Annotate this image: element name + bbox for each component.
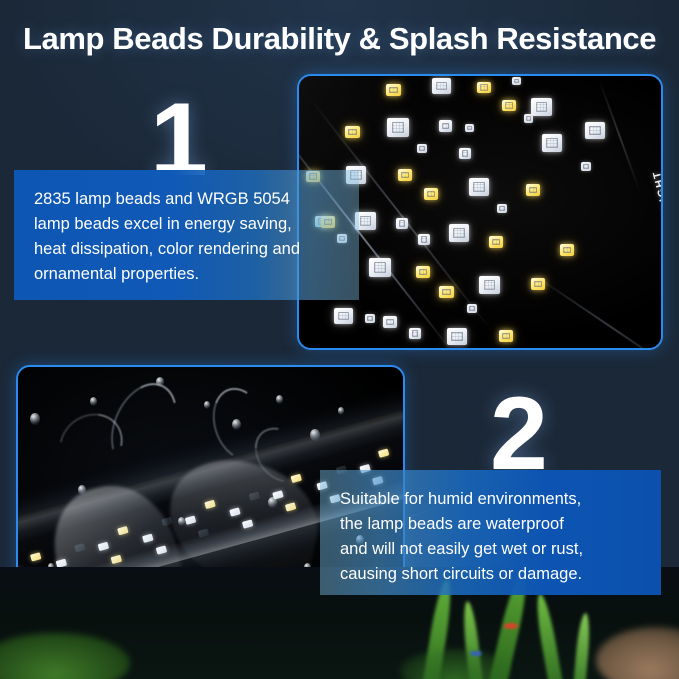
page-title: Lamp Beads Durability & Splash Resistanc… <box>0 21 679 57</box>
led-bead <box>416 266 430 278</box>
water-droplet <box>232 419 241 430</box>
water-droplet <box>268 497 277 508</box>
led-bead <box>581 162 591 171</box>
led-bead <box>409 328 421 339</box>
led-bead <box>345 126 360 138</box>
water-droplet <box>276 395 283 404</box>
led-bead <box>418 234 430 245</box>
led-bead <box>449 224 469 242</box>
led-bead <box>469 178 489 196</box>
led-bead <box>439 286 454 298</box>
water-droplet <box>310 429 320 441</box>
led-bead <box>417 144 427 153</box>
water-droplet <box>156 377 164 387</box>
led-bead <box>424 188 438 200</box>
water-droplet <box>204 401 210 409</box>
led-bead <box>447 328 467 345</box>
led-bead <box>465 124 474 132</box>
led-bead <box>499 330 513 342</box>
water-droplet <box>338 407 344 415</box>
led-bead <box>398 169 412 181</box>
infographic-canvas: Lamp Beads Durability & Splash Resistanc… <box>0 0 679 679</box>
led-bead <box>386 84 401 96</box>
water-droplet <box>90 397 97 406</box>
fish <box>470 651 482 656</box>
fish <box>504 623 518 629</box>
led-bead <box>512 77 521 85</box>
led-bead <box>502 100 516 111</box>
led-bead <box>432 78 451 94</box>
water-droplet <box>178 517 185 526</box>
feature-2-caption: Suitable for humid environments, the lam… <box>320 470 661 595</box>
plant-moss <box>596 627 679 679</box>
led-bead <box>585 122 605 139</box>
led-bead <box>479 276 500 294</box>
led-bead <box>524 114 533 123</box>
plant-moss <box>0 633 130 679</box>
led-bead <box>365 314 375 323</box>
led-bead <box>334 308 353 324</box>
plant-blade <box>572 613 591 679</box>
led-bead <box>383 316 397 328</box>
led-bead <box>396 218 408 229</box>
led-bead <box>497 204 507 213</box>
led-bead <box>531 278 545 290</box>
led-bead <box>467 304 477 313</box>
water-droplet <box>30 413 40 425</box>
led-bead <box>526 184 540 196</box>
led-bead <box>531 98 552 116</box>
plant-blade <box>533 593 565 679</box>
led-bead <box>560 244 574 256</box>
led-bead <box>477 82 491 93</box>
led-bead <box>369 258 391 277</box>
led-bead <box>489 236 503 248</box>
water-droplet <box>78 485 86 495</box>
feature-1-caption: 2835 lamp beads and WRGB 5054 lamp beads… <box>14 170 359 300</box>
led-bead <box>439 120 452 132</box>
plant-moss <box>400 649 510 679</box>
led-bead <box>459 148 471 159</box>
led-bead <box>387 118 409 137</box>
led-bead <box>542 134 562 152</box>
